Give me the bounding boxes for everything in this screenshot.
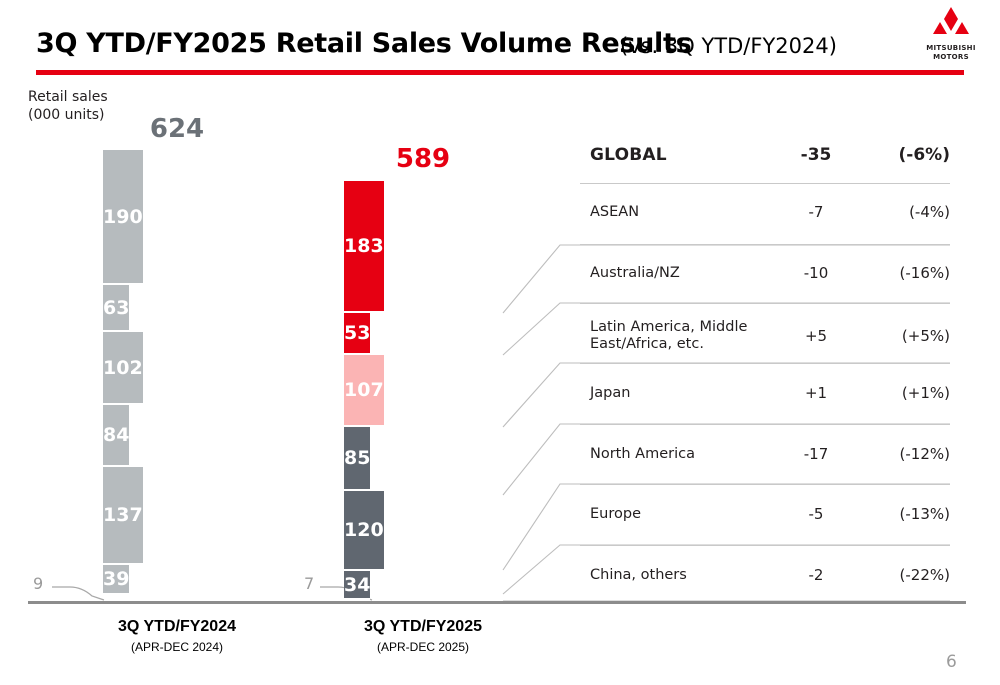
bar-xlabel-fy2025: 3Q YTD/FY2025 xyxy=(293,618,553,636)
table-cell-region: Latin America, Middle East/Africa, etc. xyxy=(590,319,768,353)
table-cell-region: Europe xyxy=(590,506,768,523)
table-cell-region: China, others xyxy=(590,567,768,584)
bar-segment-europe-fy2025[interactable]: 34 xyxy=(344,571,370,600)
table-cell-region: GLOBAL xyxy=(590,147,768,164)
table-row-australia-nz[interactable]: Australia/NZ -10 (-16%) xyxy=(590,256,950,290)
axis-caption-line2: (000 units) xyxy=(28,106,108,124)
table-cell-volume: -2 xyxy=(768,566,864,584)
table-cell-volume: -5 xyxy=(768,505,864,523)
table-row-north-america[interactable]: North America -17 (-12%) xyxy=(590,437,950,471)
bar-segment-asean-fy2025[interactable]: 183 xyxy=(344,181,384,313)
bar-xsublabel-fy2025: (APR-DEC 2025) xyxy=(293,640,553,654)
table-cell-region: Australia/NZ xyxy=(590,265,768,282)
table-row-china-others[interactable]: China, others -2 (-22%) xyxy=(590,558,950,592)
page-number: 6 xyxy=(946,652,957,672)
table-row-japan[interactable]: Japan +1 (+1%) xyxy=(590,376,950,410)
table-divider xyxy=(580,244,950,245)
table-cell-volume: -35 xyxy=(768,145,864,165)
table-cell-volume: +5 xyxy=(768,327,864,345)
table-cell-volume: -10 xyxy=(768,264,864,282)
bar-segment-north-america-fy2024[interactable]: 137 xyxy=(103,467,143,565)
table-divider xyxy=(580,363,950,364)
table-cell-percent: (-16%) xyxy=(864,264,950,282)
table-row-europe[interactable]: Europe -5 (-13%) xyxy=(590,497,950,531)
table-row-latam-mea[interactable]: Latin America, Middle East/Africa, etc. … xyxy=(590,314,950,358)
bar-segment-australia-nz-fy2024[interactable]: 63 xyxy=(103,285,129,332)
table-row-global[interactable]: GLOBAL -35 (-6%) xyxy=(590,138,950,172)
bar-callout-china-others-fy2024: 9 xyxy=(33,574,43,593)
bar-segment-north-america-fy2025[interactable]: 120 xyxy=(344,491,384,571)
axis-caption-line1: Retail sales xyxy=(28,88,108,106)
bar-segment-latam-mea-fy2025[interactable]: 107 xyxy=(344,355,384,427)
table-cell-region: Japan xyxy=(590,385,768,402)
table-divider xyxy=(580,545,950,546)
table-cell-percent: (+5%) xyxy=(864,327,950,345)
table-cell-percent: (-22%) xyxy=(864,566,950,584)
chart-baseline-axis xyxy=(28,601,966,604)
table-divider xyxy=(580,303,950,304)
bar-total-fy2025: 589 xyxy=(344,144,502,174)
table-cell-percent: (+1%) xyxy=(864,384,950,402)
bar-xlabel-fy2024: 3Q YTD/FY2024 xyxy=(47,618,307,636)
bar-segment-europe-fy2024[interactable]: 39 xyxy=(103,565,129,595)
table-cell-percent: (-13%) xyxy=(864,505,950,523)
bar-segment-australia-nz-fy2025[interactable]: 53 xyxy=(344,313,370,355)
table-divider xyxy=(580,183,950,184)
table-cell-region: North America xyxy=(590,446,768,463)
axis-caption: Retail sales (000 units) xyxy=(28,88,108,124)
bar-segment-japan-fy2025[interactable]: 85 xyxy=(344,427,370,491)
table-divider xyxy=(580,424,950,425)
bar-segment-japan-fy2024[interactable]: 84 xyxy=(103,405,129,467)
table-cell-percent: (-6%) xyxy=(864,145,950,165)
table-cell-volume: -7 xyxy=(768,203,864,221)
table-cell-volume: +1 xyxy=(768,384,864,402)
table-cell-region: ASEAN xyxy=(590,204,768,221)
bar-total-fy2024: 624 xyxy=(103,114,251,144)
bar-xsublabel-fy2024: (APR-DEC 2024) xyxy=(47,640,307,654)
table-row-asean[interactable]: ASEAN -7 (-4%) xyxy=(590,195,950,229)
bar-segment-asean-fy2024[interactable]: 190 xyxy=(103,150,143,285)
table-cell-percent: (-4%) xyxy=(864,203,950,221)
table-cell-percent: (-12%) xyxy=(864,445,950,463)
table-divider xyxy=(580,484,950,485)
table-cell-volume: -17 xyxy=(768,445,864,463)
bar-callout-china-others-fy2025: 7 xyxy=(304,574,314,593)
bar-segment-latam-mea-fy2024[interactable]: 102 xyxy=(103,332,143,405)
